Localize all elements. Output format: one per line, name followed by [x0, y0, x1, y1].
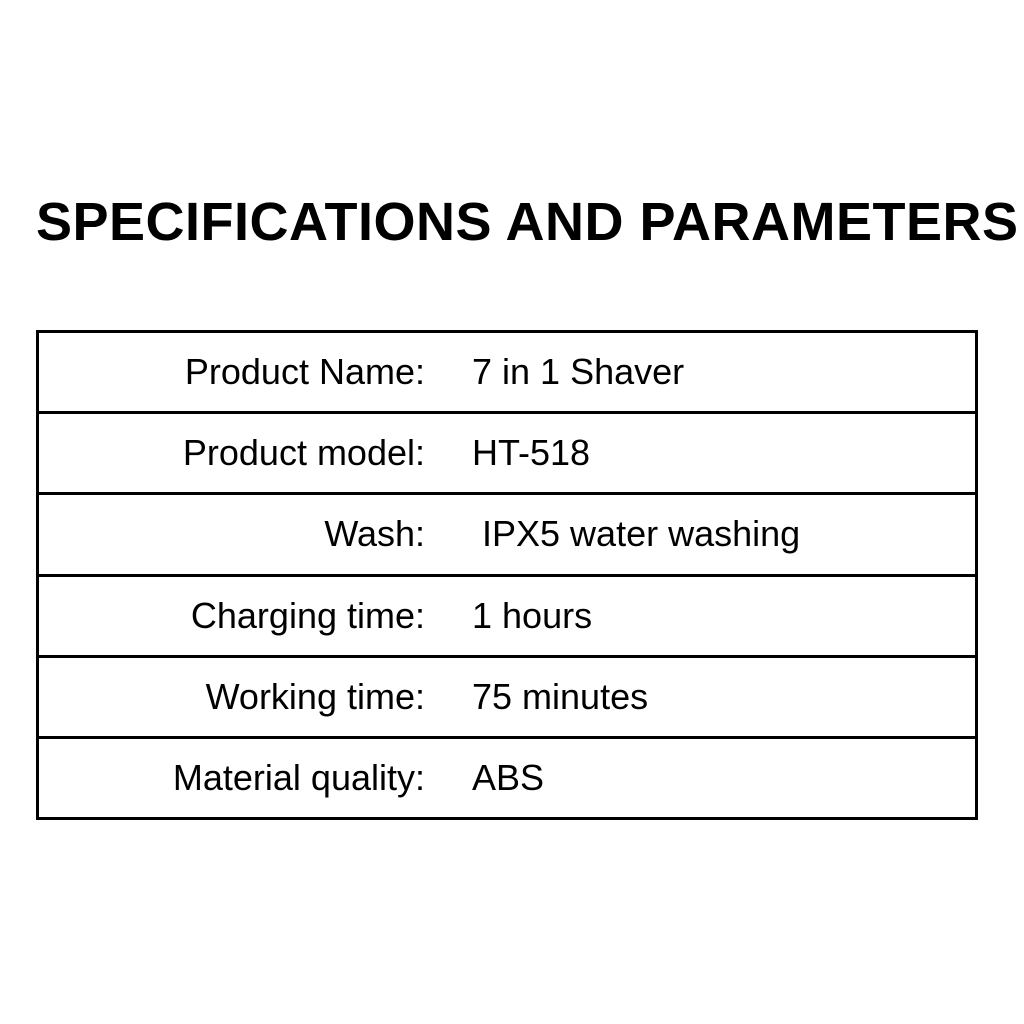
spec-value-product-name: 7 in 1 Shaver	[425, 352, 975, 392]
spec-value-wash: IPX5 water washing	[425, 514, 975, 554]
spec-sheet-page: SPECIFICATIONS AND PARAMETERS Product Na…	[0, 0, 1024, 1024]
table-row: Wash: IPX5 water washing	[39, 495, 975, 576]
table-row: Product Name: 7 in 1 Shaver	[39, 333, 975, 414]
spec-label-material-quality: Material quality:	[39, 758, 425, 798]
spec-value-product-model: HT-518	[425, 433, 975, 473]
spec-value-working-time: 75 minutes	[425, 677, 975, 717]
spec-label-charging-time: Charging time:	[39, 596, 425, 636]
table-row: Charging time: 1 hours	[39, 577, 975, 658]
specifications-table: Product Name: 7 in 1 Shaver Product mode…	[36, 330, 978, 820]
spec-value-material-quality: ABS	[425, 758, 975, 798]
spec-label-wash: Wash:	[39, 514, 425, 554]
spec-label-product-name: Product Name:	[39, 352, 425, 392]
spec-label-product-model: Product model:	[39, 433, 425, 473]
table-row: Working time: 75 minutes	[39, 658, 975, 739]
table-row: Material quality: ABS	[39, 739, 975, 817]
table-row: Product model: HT-518	[39, 414, 975, 495]
spec-value-charging-time: 1 hours	[425, 596, 975, 636]
page-title: SPECIFICATIONS AND PARAMETERS	[36, 192, 978, 252]
spec-label-working-time: Working time:	[39, 677, 425, 717]
